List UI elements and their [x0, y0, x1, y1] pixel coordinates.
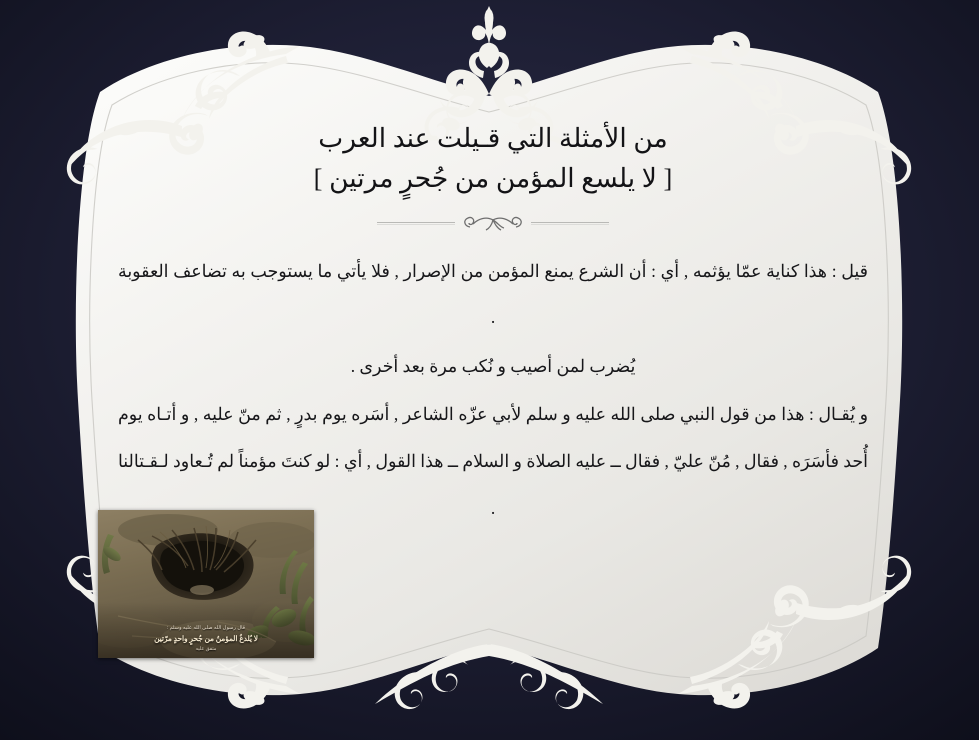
- title-divider: [108, 213, 878, 235]
- paragraph-1: قيل : هذا كناية عمّا يؤثمه , أي : أن الش…: [118, 248, 868, 341]
- flourish-divider-icon: [462, 213, 524, 235]
- burrow-photo: قال رسول الله صلى الله عليه وسلم : لا يُ…: [98, 510, 314, 658]
- slide: من الأمثلة التي قـيلت عند العرب [ لا يلس…: [0, 0, 979, 740]
- title-line-1: من الأمثلة التي قـيلت عند العرب: [108, 118, 878, 158]
- slide-title: من الأمثلة التي قـيلت عند العرب [ لا يلس…: [108, 96, 878, 199]
- divider-rule-right: [531, 222, 609, 225]
- filigree-swirl-bottom-icon: [375, 644, 603, 709]
- body-text: قيل : هذا كناية عمّا يؤثمه , أي : أن الش…: [108, 248, 878, 532]
- paragraph-2: يُضرب لمن أصيب و نُكب مرة بعد أخرى .: [118, 343, 868, 390]
- divider-rule-left: [377, 222, 455, 225]
- burrow-photo-image: [98, 510, 314, 658]
- title-line-2: [ لا يلسع المؤمن من جُحرٍ مرتين ]: [108, 158, 878, 198]
